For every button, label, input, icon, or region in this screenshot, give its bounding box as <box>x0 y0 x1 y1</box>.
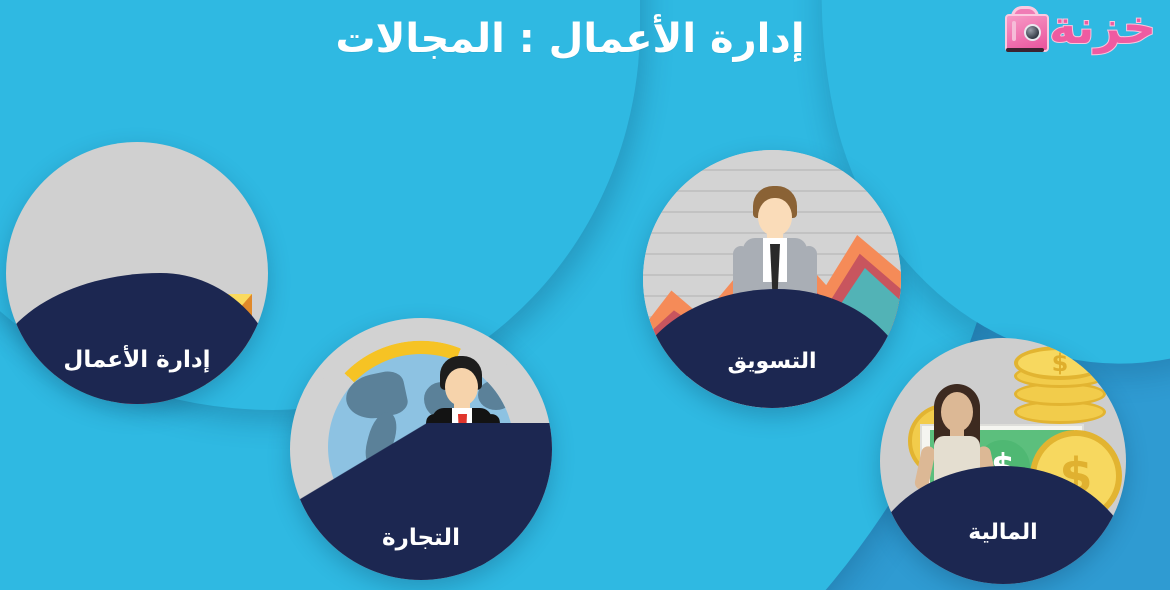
card-finance[interactable]: $ $ $ $ المالية <box>880 338 1126 584</box>
woman-head <box>941 392 973 432</box>
safe-vault-icon <box>1003 6 1047 52</box>
safe-dial-icon <box>1024 24 1041 41</box>
card-label: إدارة الأعمال <box>6 347 268 373</box>
coin-stack-top: $ <box>1014 346 1106 380</box>
man-head <box>758 198 792 236</box>
label-wave <box>290 423 552 580</box>
card-label: التسويق <box>643 349 901 374</box>
card-label: التجارة <box>290 525 552 551</box>
card-circle: التجارة <box>290 318 552 580</box>
card-circle: التسويق <box>643 150 901 408</box>
card-business-administration[interactable]: إدارة الأعمال <box>6 142 268 404</box>
card-marketing[interactable]: التسويق <box>643 150 901 408</box>
card-circle: $ $ $ $ المالية <box>880 338 1126 584</box>
card-circle: إدارة الأعمال <box>6 142 268 404</box>
man-head <box>445 368 478 406</box>
infographic-canvas: إدارة الأعمال : المجالات خزنة <box>0 0 1170 590</box>
card-commerce[interactable]: التجارة <box>290 318 552 580</box>
card-label: المالية <box>880 520 1126 545</box>
brand-logo[interactable]: خزنة <box>1001 2 1156 52</box>
safe-feet-icon <box>1006 48 1044 52</box>
page-title: إدارة الأعمال : المجالات <box>0 14 1170 64</box>
logo-wordmark: خزنة <box>1049 4 1156 50</box>
safe-lever-icon <box>1012 21 1016 41</box>
